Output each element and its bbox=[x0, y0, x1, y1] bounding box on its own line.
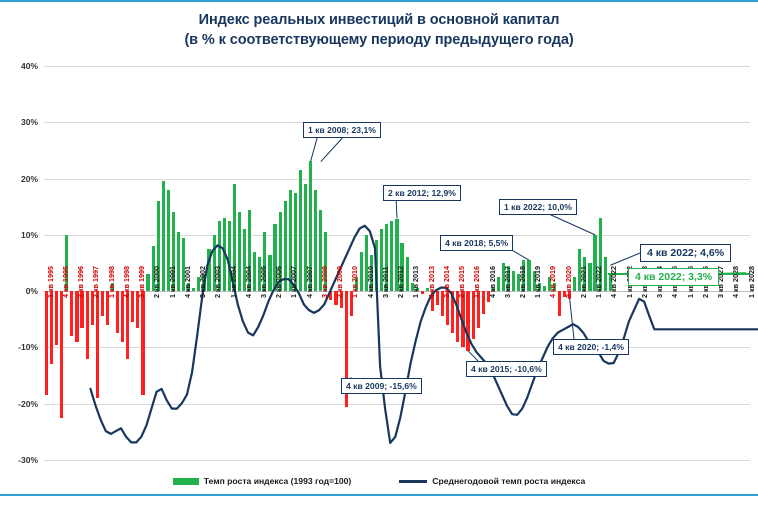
x-axis-tick-label: 2 кв 2021 bbox=[581, 266, 587, 298]
legend-bars-label: Темп роста индекса (1993 год=100) bbox=[204, 476, 352, 486]
x-axis-tick-label: 1 кв 2013 bbox=[413, 266, 419, 298]
callout-2015: 4 кв 2015; -10,6% bbox=[466, 361, 547, 377]
x-axis-tick-label: 3 кв 2002 bbox=[200, 266, 206, 298]
legend-line-swatch-icon bbox=[399, 480, 427, 483]
x-axis-tick-label: 4 кв 2016 bbox=[490, 266, 496, 298]
x-axis-tick-label: 2 кв 2018 bbox=[520, 266, 526, 298]
x-axis-tick-label: 1 кв 2019 bbox=[535, 266, 541, 298]
y-axis-tick-label: -30% bbox=[2, 455, 38, 465]
y-axis-tick-label: 0% bbox=[2, 286, 38, 296]
x-axis-tick-label: 3 кв 2008 bbox=[322, 266, 328, 298]
x-axis-tick-label: 2 кв 2009 bbox=[337, 266, 343, 298]
callout-2020: 4 кв 2020; -1,4% bbox=[553, 339, 629, 355]
x-axis-tick-label: 1 кв 1998 bbox=[109, 266, 115, 298]
x-axis-tick-label: 3 кв 2011 bbox=[383, 266, 389, 298]
title-line-1: Индекс реальных инвестиций в основной ка… bbox=[199, 12, 560, 28]
x-axis-tick-label: 1 кв 2001 bbox=[170, 266, 176, 298]
x-axis-tick-label: 2 кв 1997 bbox=[93, 266, 99, 298]
y-axis-tick-label: 10% bbox=[2, 230, 38, 240]
x-axis-tick-label: 2 кв 2015 bbox=[459, 266, 465, 298]
x-axis-tick-label: 1 кв 2022 bbox=[596, 266, 602, 298]
x-axis-tick-label: 3 кв 1999 bbox=[139, 266, 145, 298]
x-axis-tick-label: 1 кв 2004 bbox=[231, 266, 237, 298]
y-axis-tick-label: -20% bbox=[2, 399, 38, 409]
x-axis-tick-label: 2 кв 2006 bbox=[276, 266, 282, 298]
callout-2022-bar: 4 кв 2022; 3,3% bbox=[628, 268, 719, 286]
x-axis-tick-label: 3 кв 2017 bbox=[505, 266, 511, 298]
y-axis-tick-label: 40% bbox=[2, 61, 38, 71]
x-axis-tick-label: 4 кв 2004 bbox=[246, 266, 252, 298]
plot-area bbox=[44, 66, 750, 460]
chart-frame: Индекс реальных инвестиций в основной ка… bbox=[0, 0, 758, 496]
callout-2018: 4 кв 2018; 5,5% bbox=[440, 235, 513, 251]
callout-2022-line: 4 кв 2022; 4,6% bbox=[640, 244, 731, 262]
x-axis-labels: 1 кв 19954 кв 19953 кв 19962 кв 19971 кв… bbox=[44, 298, 750, 360]
gridline bbox=[44, 122, 750, 123]
chart-legend: Темп роста индекса (1993 год=100) Средне… bbox=[0, 476, 758, 486]
x-axis-tick-label: 1 кв 2007 bbox=[291, 266, 297, 298]
legend-item-bars: Темп роста индекса (1993 год=100) bbox=[173, 476, 352, 486]
title-line-2: (в % к соответствующему периоду предыдущ… bbox=[0, 30, 758, 50]
legend-item-line: Среднегодовой темп роста индекса bbox=[399, 476, 585, 486]
x-axis-tick-label: 2 кв 2000 bbox=[154, 266, 160, 298]
legend-line-label: Среднегодовой темп роста индекса bbox=[432, 476, 585, 486]
x-axis-tick-label: 3 кв 2014 bbox=[444, 266, 450, 298]
callout-2012: 2 кв 2012; 12,9% bbox=[383, 185, 461, 201]
x-axis-tick-label: 3 кв 1996 bbox=[78, 266, 84, 298]
x-axis-tick-label: 3 кв 2005 bbox=[261, 266, 267, 298]
callout-2022-q1: 1 кв 2022; 10,0% bbox=[499, 199, 577, 215]
x-axis-tick-label: 4 кв 2013 bbox=[429, 266, 435, 298]
legend-bar-swatch-icon bbox=[173, 478, 199, 485]
x-axis-tick-label: 4 кв 1998 bbox=[124, 266, 130, 298]
x-axis-tick-label: 4 кв 2022 bbox=[611, 266, 617, 298]
x-axis-tick-label: 1 кв 2028 bbox=[749, 266, 755, 298]
x-axis-tick-label: 3 кв 2020 bbox=[566, 266, 572, 298]
gridline bbox=[44, 66, 750, 67]
x-axis-tick-label: 2 кв 2012 bbox=[398, 266, 404, 298]
x-axis-tick-label: 1 кв 2016 bbox=[474, 266, 480, 298]
y-axis-tick-label: 20% bbox=[2, 174, 38, 184]
page-title: Индекс реальных инвестиций в основной ка… bbox=[0, 10, 758, 50]
y-axis-labels: 40%30%20%10%0%-10%-20%-30% bbox=[0, 66, 44, 460]
x-axis-tick-label: 4 кв 2010 bbox=[368, 266, 374, 298]
callout-2009: 4 кв 2009; -15,6% bbox=[341, 378, 422, 394]
y-axis-tick-label: -10% bbox=[2, 342, 38, 352]
x-axis-tick-label: 1 кв 1995 bbox=[48, 266, 54, 298]
x-axis-tick-label: 4 кв 2007 bbox=[307, 266, 313, 298]
y-axis-tick-label: 30% bbox=[2, 117, 38, 127]
x-axis-tick-label: 4 кв 2019 bbox=[550, 266, 556, 298]
x-axis-tick-label: 4 кв 2028 bbox=[733, 266, 739, 298]
x-axis-tick-label: 1 кв 2010 bbox=[352, 266, 358, 298]
x-axis-tick-label: 4 кв 2001 bbox=[185, 266, 191, 298]
callout-2008: 1 кв 2008; 23,1% bbox=[303, 122, 381, 138]
x-axis-tick-label: 4 кв 1995 bbox=[63, 266, 69, 298]
x-axis-tick-label: 2 кв 2003 bbox=[215, 266, 221, 298]
